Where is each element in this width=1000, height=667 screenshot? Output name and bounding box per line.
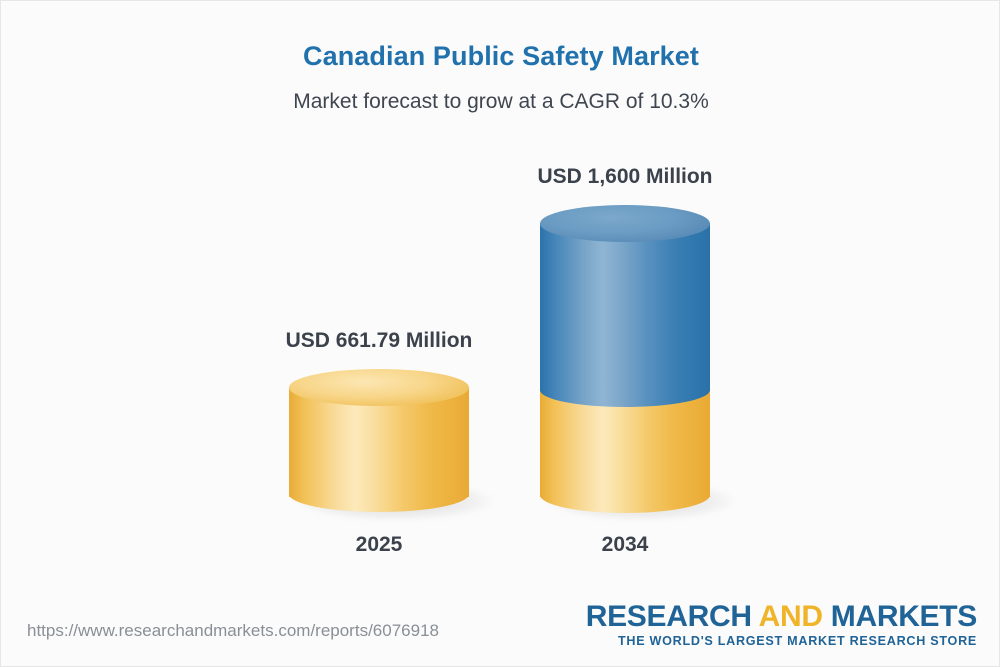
bar-cylinder-2025[interactable] [289,369,469,515]
bar-segment-2034-top [540,223,710,391]
bar-top-cap-2025 [289,369,469,406]
bar-bottom-cap-2025 [289,476,469,512]
logo-word-and: AND [759,600,823,633]
logo-tagline: THE WORLD'S LARGEST MARKET RESEARCH STOR… [586,634,977,648]
research-and-markets-logo[interactable]: RESEARCH AND MARKETS THE WORLD'S LARGEST… [586,601,977,648]
logo-wordmark: RESEARCH AND MARKETS [586,601,977,633]
value-label-2034: USD 1,600 Million [425,165,825,189]
plot-area: USD 661.79 Million 2025 USD 1,600 Millio… [1,1,1000,601]
chart-canvas: Canadian Public Safety Market Market for… [0,0,1000,667]
logo-word-research: RESEARCH [586,600,759,633]
bar-bottom-cap-2034 [540,477,710,513]
source-url[interactable]: https://www.researchandmarkets.com/repor… [27,621,439,641]
bar-cylinder-2034[interactable] [540,205,710,515]
bar-segment-divider-2034 [540,373,710,407]
category-label-2034: 2034 [425,533,825,557]
logo-word-markets: MARKETS [823,600,977,633]
bar-top-cap-2034 [540,205,710,242]
value-label-2025: USD 661.79 Million [179,329,579,353]
